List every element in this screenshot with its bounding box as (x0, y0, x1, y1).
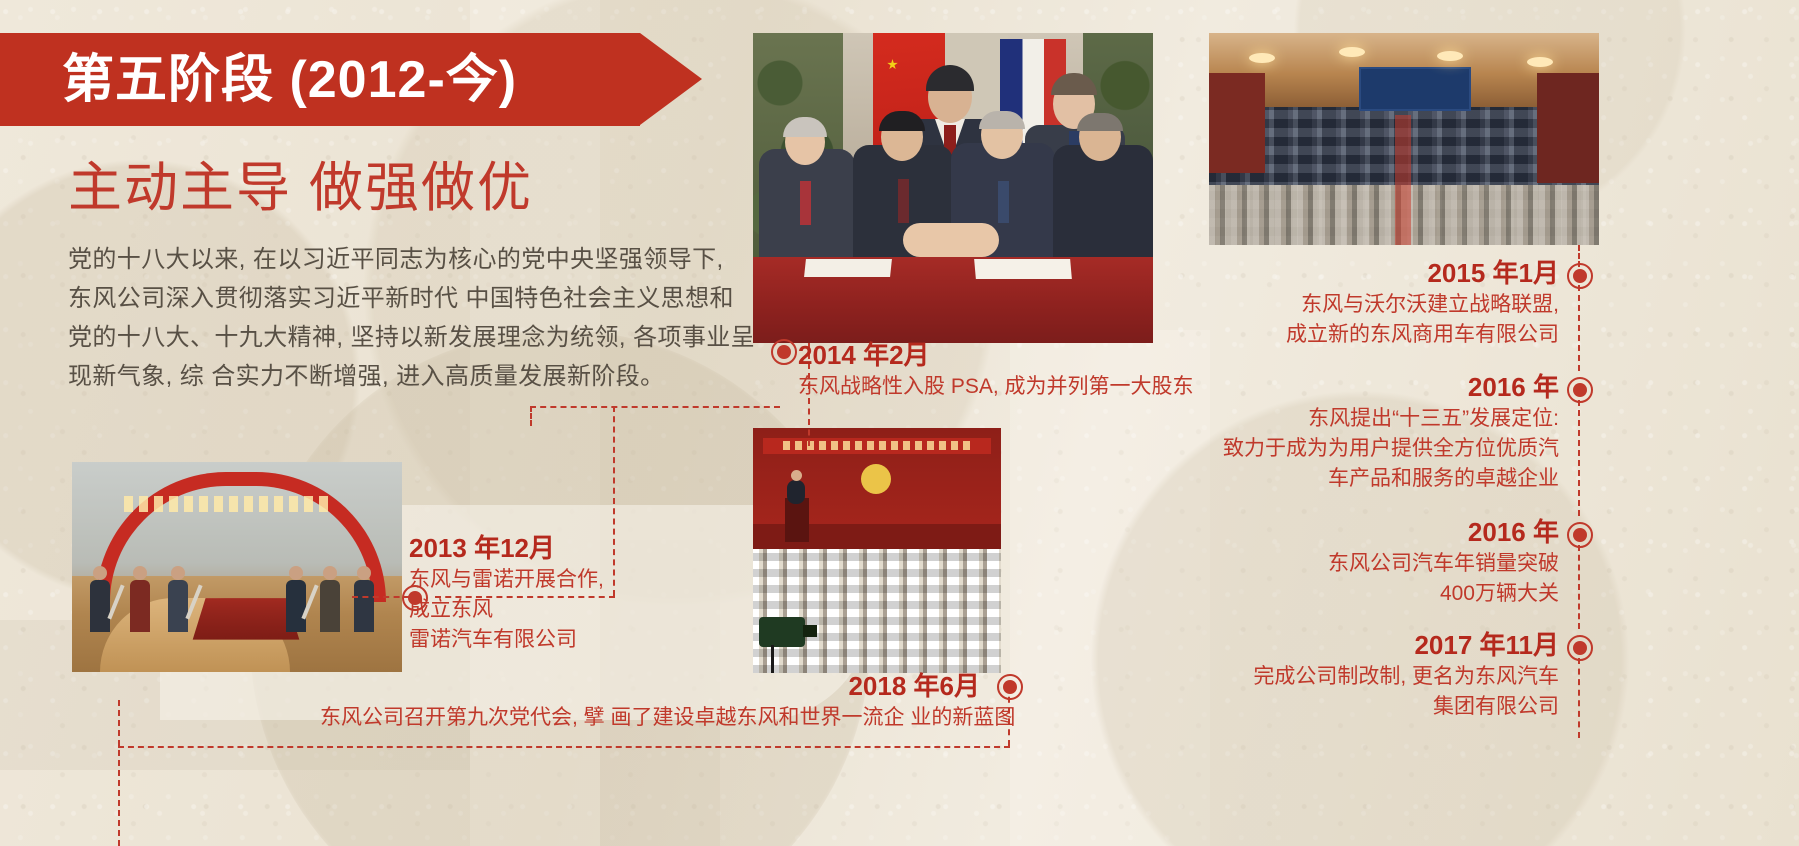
timeline-body-line: 东风公司召开第九次党代会, 擘 画了建设卓越东风和世界一流企 业的新蓝图 (320, 703, 980, 733)
timeline-dot-2016b[interactable] (1567, 522, 1593, 548)
timeline-entry-2015[interactable]: 2015 年1月 东风与沃尔沃建立战略联盟, 成立新的东风商用车有限公司 (1219, 256, 1559, 350)
connector-right-rail (1578, 545, 1580, 629)
timeline-year-2015: 2015 年1月 (1219, 256, 1559, 290)
groundbreaking-ceremony-photo (72, 462, 402, 672)
timeline-body-line: 致力于成为为用户提供全方位优质汽 (1159, 434, 1559, 464)
connector-right-rail (1578, 658, 1580, 738)
timeline-entry-2016-plan[interactable]: 2016 年 东风提出“十三五”发展定位: 致力于成为为用户提供全方位优质汽 车… (1159, 370, 1559, 494)
timeline-body-line: 东风公司汽车年销量突破 (1219, 549, 1559, 579)
connector-2013-up (613, 406, 615, 596)
timeline-year-2016-plan: 2016 年 (1159, 370, 1559, 404)
connector-left-edge (118, 700, 120, 846)
connector-right-rail (1578, 285, 1580, 371)
timeline-body-line: 雷诺汽车有限公司 (409, 625, 604, 655)
paragraph-line: 党的十八大以来, 在以习近平同志为核心的党中央坚强领导下, (68, 240, 728, 279)
timeline-year-2013: 2013 年12月 (409, 531, 604, 565)
conference-hall-photo (1209, 33, 1599, 245)
paragraph-line: 现新气象, 综 合实力不断增强, 进入高质量发展新阶段。 (68, 357, 728, 396)
connector-2014-lower (808, 398, 810, 446)
timeline-entry-2017[interactable]: 2017 年11月 完成公司制改制, 更名为东风汽车 集团有限公司 (1199, 628, 1559, 722)
timeline-entry-2018[interactable]: 2018 年6月 东风公司召开第九次党代会, 擘 画了建设卓越东风和世界一流企 … (320, 669, 980, 733)
timeline-body-line: 成立新的东风商用车有限公司 (1219, 320, 1559, 350)
timeline-year-2014: 2014 年2月 (798, 338, 1194, 372)
timeline-dot-2016a[interactable] (1567, 377, 1593, 403)
timeline-entry-2013[interactable]: 2013 年12月 东风与雷诺开展合作, 成立东风 雷诺汽车有限公司 (409, 531, 604, 655)
timeline-body-line: 东风战略性入股 PSA, 成为并列第一大股东 (798, 372, 1194, 402)
timeline-body-line: 东风提出“十三五”发展定位: (1159, 404, 1559, 434)
headline: 主动主导 做强做优 (68, 152, 533, 224)
timeline-body-line: 集团有限公司 (1199, 692, 1559, 722)
intro-paragraph: 党的十八大以来, 在以习近平同志为核心的党中央坚强领导下, 东风公司深入贯彻落实… (68, 240, 728, 396)
timeline-entry-2016-sales[interactable]: 2016 年 东风公司汽车年销量突破 400万辆大关 (1219, 515, 1559, 609)
timeline-year-2017: 2017 年11月 (1199, 628, 1559, 662)
timeline-year-2016-sales: 2016 年 (1219, 515, 1559, 549)
paragraph-line: 东风公司深入贯彻落实习近平新时代 中国特色社会主义思想和 (68, 279, 728, 318)
connector-right-rail (1578, 400, 1580, 516)
connector-2013-top (530, 406, 780, 408)
connector-2013-stub (530, 406, 532, 426)
page-title: 第五阶段 (2012-今) (62, 44, 662, 116)
timeline-body-line: 车产品和服务的卓越企业 (1159, 464, 1559, 494)
timeline-body-line: 400万辆大关 (1219, 579, 1559, 609)
timeline-dot-2014[interactable] (771, 339, 797, 365)
infographic-canvas: 第五阶段 (2012-今) 主动主导 做强做优 党的十八大以来, 在以习近平同志… (0, 0, 1799, 846)
timeline-dot-2015[interactable] (1567, 263, 1593, 289)
timeline-body-line: 东风与沃尔沃建立战略联盟, (1219, 290, 1559, 320)
timeline-body-line: 成立东风 (409, 595, 604, 625)
connector-2018-across (118, 746, 1010, 748)
timeline-body-line: 完成公司制改制, 更名为东风汽车 (1199, 662, 1559, 692)
party-congress-photo (753, 428, 1001, 673)
timeline-dot-2017[interactable] (1567, 635, 1593, 661)
signing-ceremony-photo (753, 33, 1153, 343)
timeline-dot-2018[interactable] (997, 674, 1023, 700)
timeline-entry-2014[interactable]: 2014 年2月 东风战略性入股 PSA, 成为并列第一大股东 (798, 338, 1194, 402)
paragraph-line: 党的十八大、十九大精神, 坚持以新发展理念为统领, 各项事业呈 (68, 318, 728, 357)
timeline-year-2018: 2018 年6月 (320, 669, 980, 703)
timeline-body-line: 东风与雷诺开展合作, (409, 565, 604, 595)
